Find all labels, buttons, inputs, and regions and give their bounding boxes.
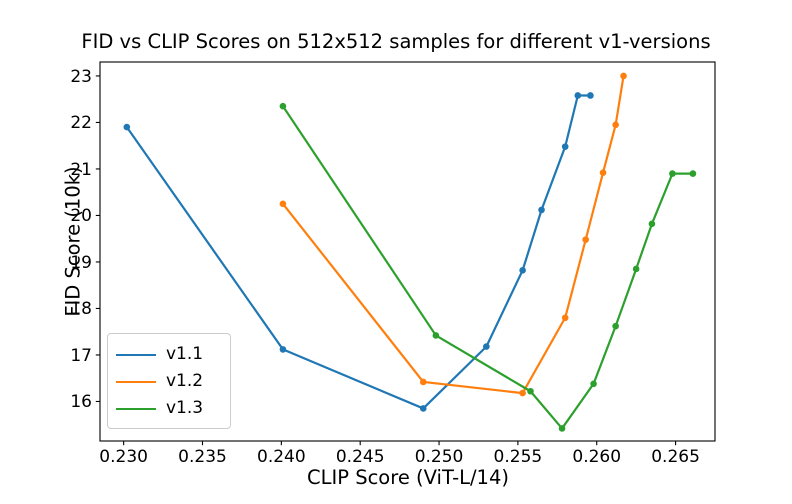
data-point[interactable]: [433, 332, 440, 339]
data-point[interactable]: [690, 170, 697, 177]
data-point[interactable]: [633, 266, 640, 273]
legend: v1.1v1.2v1.3: [107, 333, 231, 429]
data-point[interactable]: [600, 169, 607, 176]
legend-label: v1.2: [166, 373, 203, 390]
data-point[interactable]: [575, 92, 582, 99]
data-point[interactable]: [587, 92, 594, 99]
data-point[interactable]: [620, 73, 627, 80]
data-point[interactable]: [562, 314, 569, 321]
data-point[interactable]: [519, 267, 526, 274]
data-point[interactable]: [559, 425, 566, 432]
data-point[interactable]: [519, 390, 526, 397]
data-point[interactable]: [612, 323, 619, 330]
series-v1-2: [280, 73, 627, 397]
data-point[interactable]: [124, 124, 131, 131]
data-point[interactable]: [420, 405, 427, 412]
data-point[interactable]: [538, 207, 545, 214]
legend-color-swatch: [116, 408, 156, 410]
series-v1-3: [280, 103, 697, 432]
data-point[interactable]: [280, 346, 287, 353]
legend-item-v1-2[interactable]: v1.2: [116, 368, 222, 395]
legend-item-v1-1[interactable]: v1.1: [116, 341, 222, 368]
data-point[interactable]: [483, 343, 490, 350]
data-point[interactable]: [612, 121, 619, 128]
data-point[interactable]: [527, 388, 534, 395]
data-point[interactable]: [590, 381, 597, 388]
data-point[interactable]: [280, 201, 287, 208]
data-point[interactable]: [669, 170, 676, 177]
data-point[interactable]: [420, 379, 427, 386]
legend-color-swatch: [116, 354, 156, 356]
figure-canvas: FID vs CLIP Scores on 512x512 samples fo…: [0, 0, 792, 504]
data-point[interactable]: [582, 236, 589, 243]
legend-label: v1.1: [166, 346, 203, 363]
series-line: [283, 106, 693, 428]
legend-label: v1.3: [166, 400, 203, 417]
data-point[interactable]: [280, 103, 287, 110]
data-point[interactable]: [562, 143, 569, 150]
legend-item-v1-3[interactable]: v1.3: [116, 395, 222, 422]
legend-color-swatch: [116, 381, 156, 383]
data-point[interactable]: [649, 221, 656, 228]
